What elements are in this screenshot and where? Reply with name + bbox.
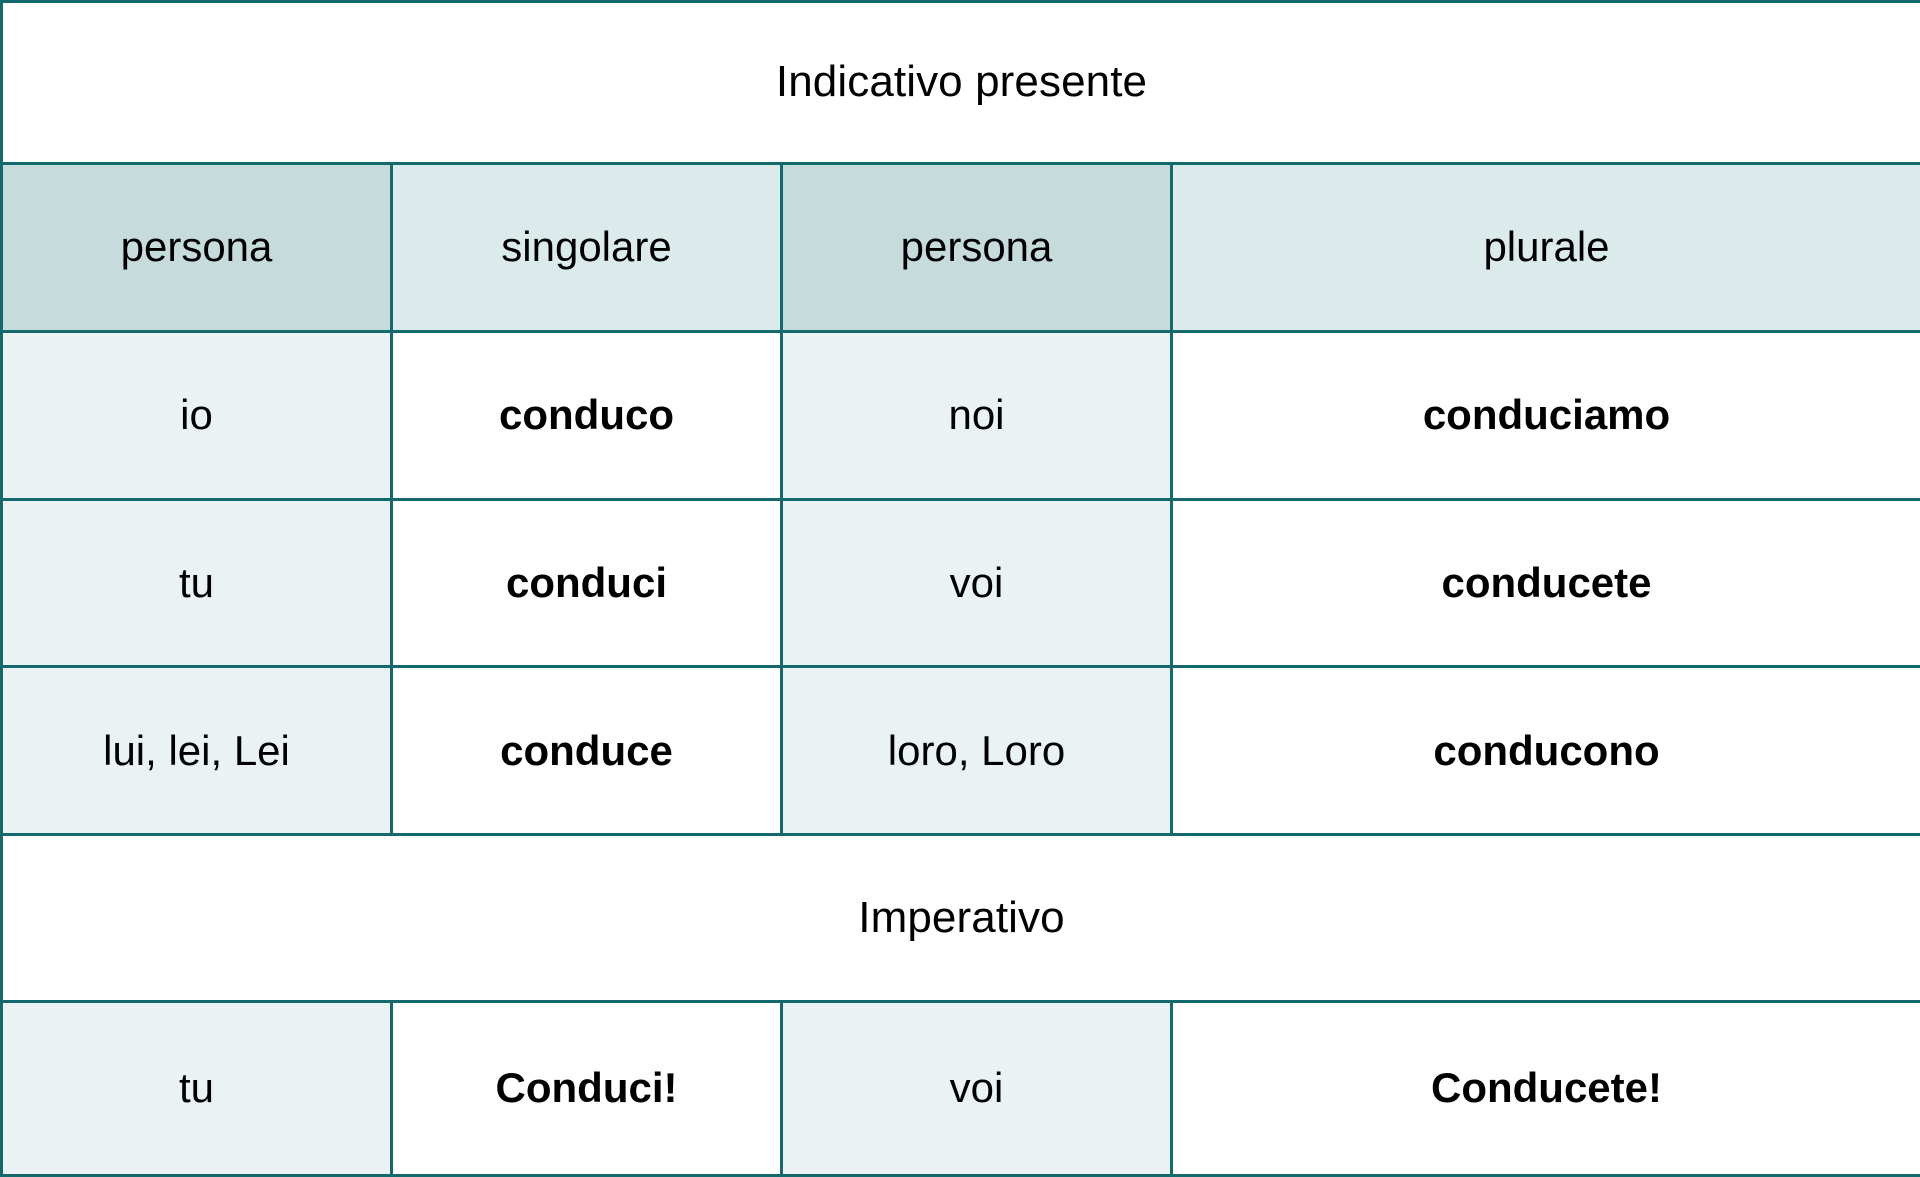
verb-plural: conducete [1172,499,1920,667]
verb-plural: conduciamo [1172,331,1920,499]
column-header-row: persona singolare persona plurale [2,163,1920,331]
pronoun-plural: loro, Loro [782,667,1172,835]
pronoun-plural: noi [782,331,1172,499]
pronoun-singular: tu [2,1001,392,1175]
pronoun-plural: voi [782,1001,1172,1175]
verb-plural: Conducete! [1172,1001,1920,1175]
pronoun-singular: io [2,331,392,499]
column-header-plurale: plurale [1172,163,1920,331]
column-header-persona-singolare: persona [2,163,392,331]
pronoun-plural: voi [782,499,1172,667]
column-header-singolare: singolare [392,163,782,331]
verb-singular: conduci [392,499,782,667]
verb-singular: conduco [392,331,782,499]
section-title-row-indicativo: Indicativo presente [2,2,1920,164]
pronoun-singular: lui, lei, Lei [2,667,392,835]
verb-conjugation-table: Indicativo presente persona singolare pe… [0,0,1920,1177]
verb-singular: conduce [392,667,782,835]
verb-singular: Conduci! [392,1001,782,1175]
section-title-imperativo: Imperativo [2,835,1920,1002]
section-title-indicativo: Indicativo presente [2,2,1920,164]
table-row: tu conduci voi conducete [2,499,1920,667]
table-row: tu Conduci! voi Conducete! [2,1001,1920,1175]
pronoun-singular: tu [2,499,392,667]
verb-plural: conducono [1172,667,1920,835]
section-title-row-imperativo: Imperativo [2,835,1920,1002]
column-header-persona-plurale: persona [782,163,1172,331]
table-row: io conduco noi conduciamo [2,331,1920,499]
table-row: lui, lei, Lei conduce loro, Loro conduco… [2,667,1920,835]
